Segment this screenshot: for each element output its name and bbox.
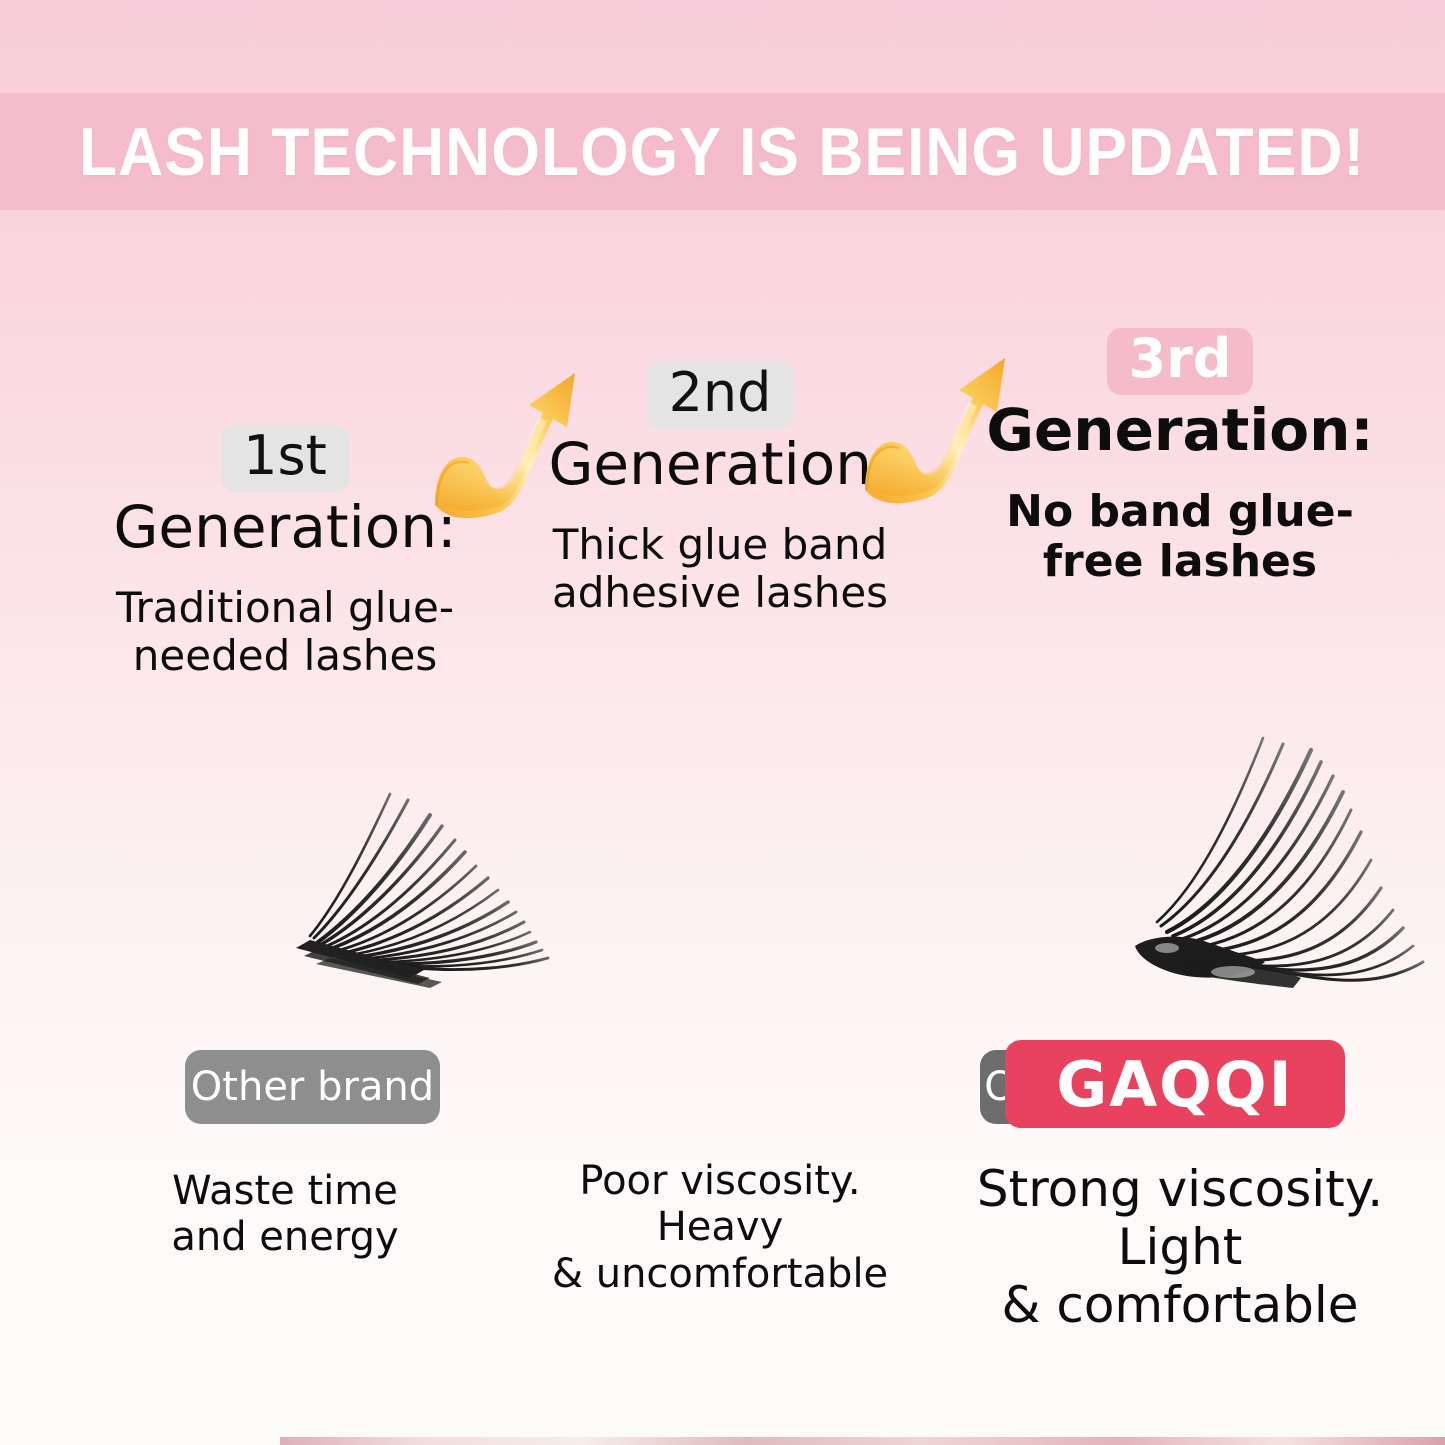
infographic-poster: LASH TECHNOLOGY IS BEING UPDATED! 1st Ge… [0,0,1445,1445]
lash-photo-1 [260,730,560,990]
header-banner: LASH TECHNOLOGY IS BEING UPDATED! [0,93,1445,210]
caption-line-2: & uncomfortable [552,1251,888,1297]
next-image-sliver [280,1437,1445,1445]
caption-line-2: and energy [171,1214,398,1260]
description-line-2: free lashes [1043,536,1317,587]
description-line-1: Thick glue band [553,520,888,569]
generation-badge-2: 2nd [647,362,794,429]
description-line-2: adhesive lashes [552,568,888,617]
caption-line-2: & comfortable [1001,1276,1358,1334]
lash-photo-2 [1115,710,1435,990]
comparison-columns: 1st Generation: Traditional glue- needed… [0,300,1445,1300]
column-3-caption: Strong viscosity. Light & comfortable [960,1160,1400,1334]
description-line-2: needed lashes [133,631,437,680]
description-line-1: No band glue- [1006,486,1354,537]
caption-line-1: Waste time [172,1168,398,1214]
brand-badge-3: GAQQI [1005,1040,1345,1128]
generation-word-1: Generation: [110,496,460,559]
generation-badge-3: 3rd [1107,328,1254,395]
column-2-caption: Poor viscosity. Heavy & uncomfortable [540,1158,900,1297]
column-1-caption: Waste time and energy [110,1168,460,1261]
generation-description-3: No band glue- free lashes [960,487,1400,586]
description-line-1: Traditional glue- [116,583,454,632]
generation-description-1: Traditional glue- needed lashes [110,584,460,679]
page-title: LASH TECHNOLOGY IS BEING UPDATED! [79,113,1365,191]
generation-word-2: Generation: [540,433,900,496]
generation-description-2: Thick glue band adhesive lashes [540,521,900,616]
column-3-heading: 3rd Generation: No band glue- free lashe… [960,328,1400,587]
generation-word-3: Generation: [960,399,1400,462]
generation-badge-1: 1st [221,425,349,492]
gold-upward-arrow-1-icon [425,355,585,520]
brand-badge-1: Other brand [185,1050,440,1124]
caption-line-1: Poor viscosity. Heavy [579,1158,860,1250]
gold-upward-arrow-2-icon [855,340,1015,505]
column-1-heading: 1st Generation: Traditional glue- needed… [110,425,460,679]
caption-line-1: Strong viscosity. Light [977,1160,1383,1276]
column-2-heading: 2nd Generation: Thick glue band adhesive… [540,362,900,616]
